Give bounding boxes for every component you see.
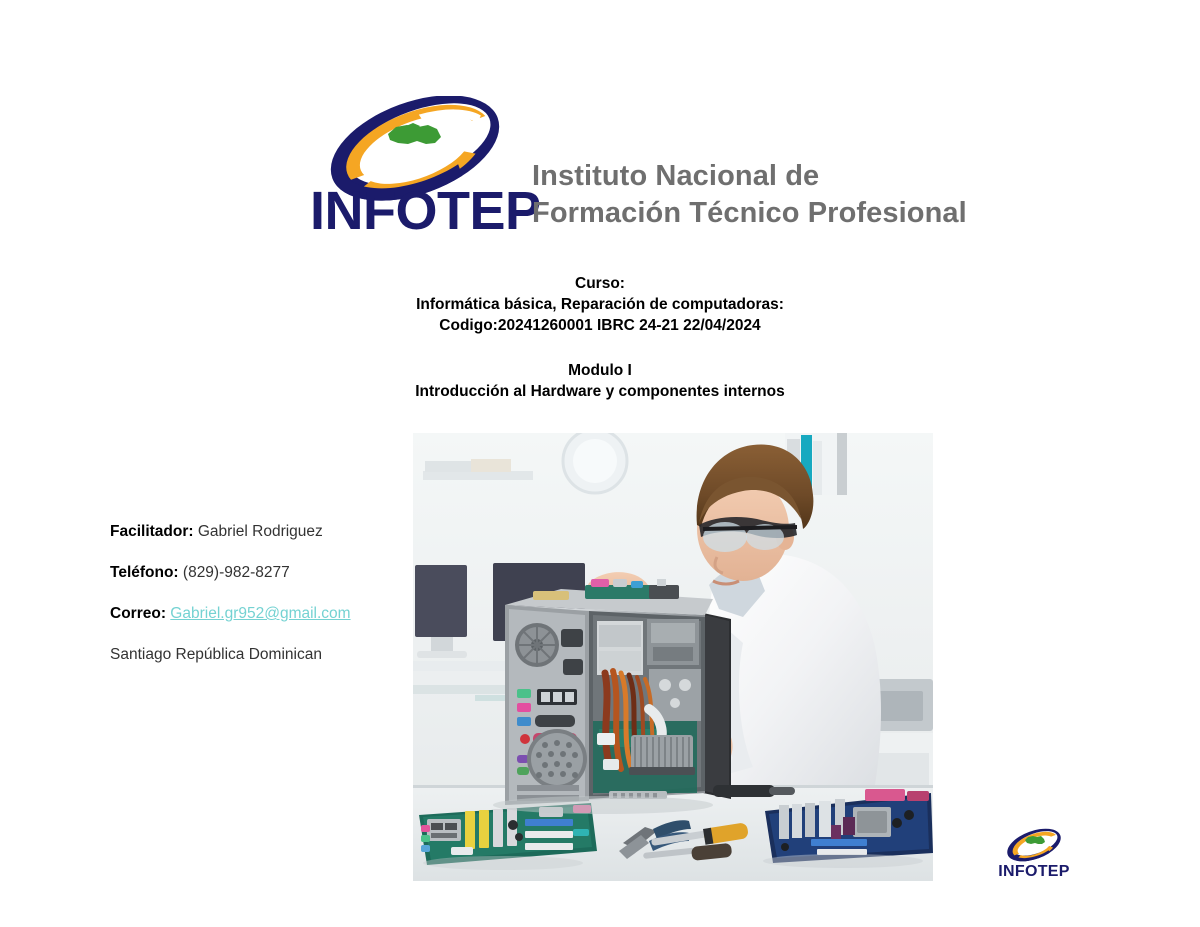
infotep-tagline: Instituto Nacional de Formación Técnico … xyxy=(532,158,967,232)
tagline-line-1: Instituto Nacional de xyxy=(532,158,967,195)
module-subtitle: Introducción al Hardware y componentes i… xyxy=(0,381,1200,402)
course-title-block: Curso: Informática básica, Reparación de… xyxy=(0,273,1200,336)
course-code: Codigo:20241260001 IBRC 24-21 22/04/2024 xyxy=(0,315,1200,336)
phone-label: Teléfono: xyxy=(110,564,179,581)
contact-info-block: Facilitador: Gabriel Rodriguez Teléfono:… xyxy=(110,523,410,664)
course-heading: Curso: xyxy=(0,273,1200,294)
phone-row: Teléfono: (829)-982-8277 xyxy=(110,564,410,582)
location-row: Santiago República Dominican xyxy=(110,646,410,664)
infotep-wordmark: INFOTEP xyxy=(310,184,541,238)
infotep-footer-logo: INFOTEP xyxy=(988,828,1080,888)
course-name: Informática básica, Reparación de comput… xyxy=(0,294,1200,315)
email-row: Correo: Gabriel.gr952@gmail.com xyxy=(110,605,410,623)
phone-value: (829)-982-8277 xyxy=(183,564,290,581)
facilitator-value: Gabriel Rodriguez xyxy=(198,523,323,540)
facilitator-label: Facilitador: xyxy=(110,523,194,540)
computer-repair-photo xyxy=(413,433,933,881)
email-label: Correo: xyxy=(110,605,166,622)
email-link[interactable]: Gabriel.gr952@gmail.com xyxy=(170,605,350,622)
infotep-header-logo: INFOTEP Instituto Nacional de Formación … xyxy=(310,96,930,241)
infotep-footer-wordmark: INFOTEP xyxy=(988,864,1080,880)
location-value: Santiago República Dominican xyxy=(110,646,322,663)
module-title-block: Modulo I Introducción al Hardware y comp… xyxy=(0,360,1200,402)
module-title: Modulo I xyxy=(0,360,1200,381)
tagline-line-2: Formación Técnico Profesional xyxy=(532,195,967,232)
facilitator-row: Facilitador: Gabriel Rodriguez xyxy=(110,523,410,541)
slide-page: INFOTEP Instituto Nacional de Formación … xyxy=(0,0,1200,927)
